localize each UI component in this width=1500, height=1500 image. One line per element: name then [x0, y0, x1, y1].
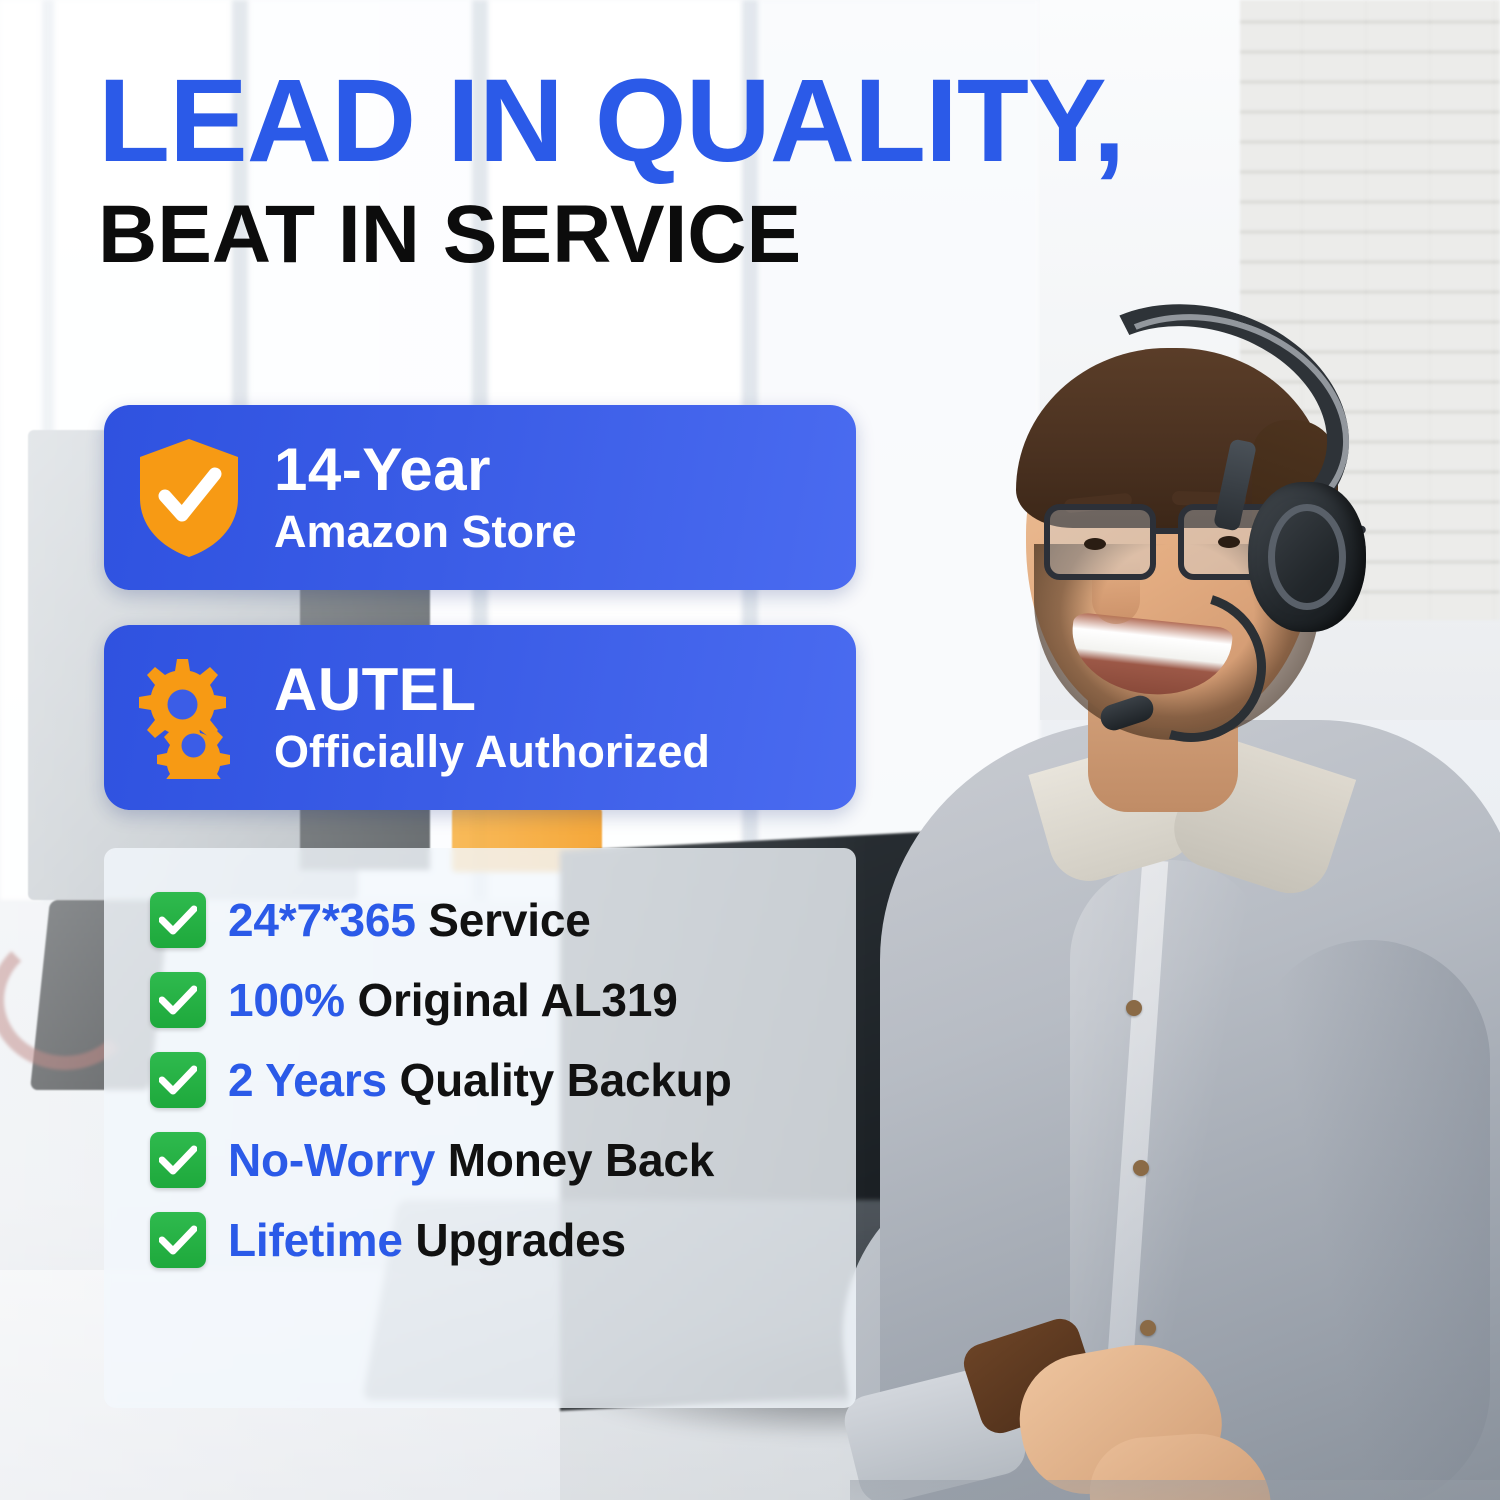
person-shadow	[850, 1480, 1500, 1500]
headline-line-1: LEAD IN QUALITY,	[98, 62, 1458, 180]
badge-card-autel-authorized: AUTEL Officially Authorized	[104, 625, 856, 810]
feature-highlight: 2 Years	[228, 1054, 387, 1106]
feature-rest: Service	[416, 894, 591, 946]
badge-title: 14-Year	[274, 440, 577, 500]
feature-text: No-Worry Money Back	[228, 1133, 714, 1187]
features-list: 24*7*365 Service 100% Original AL319 2 Y…	[150, 892, 910, 1268]
feature-rest: Money Back	[435, 1134, 714, 1186]
feature-text: Lifetime Upgrades	[228, 1213, 626, 1267]
feature-row: 24*7*365 Service	[150, 892, 910, 948]
badge-text-group: 14-Year Amazon Store	[274, 440, 595, 555]
headline-line-2: BEAT IN SERVICE	[98, 194, 1458, 276]
headset-earcup-ring	[1268, 504, 1346, 610]
feature-row: 2 Years Quality Backup	[150, 1052, 910, 1108]
badge-subtitle: Amazon Store	[274, 508, 577, 555]
gears-icon	[104, 657, 274, 779]
badge-subtitle: Officially Authorized	[274, 728, 710, 775]
feature-row: 100% Original AL319	[150, 972, 910, 1028]
feature-text: 100% Original AL319	[228, 973, 678, 1027]
feature-text: 2 Years Quality Backup	[228, 1053, 732, 1107]
product-infographic: LEAD IN QUALITY, BEAT IN SERVICE 14-Year…	[0, 0, 1500, 1500]
check-icon	[150, 1132, 206, 1188]
badge-card-amazon-store: 14-Year Amazon Store	[104, 405, 856, 590]
feature-highlight: No-Worry	[228, 1134, 435, 1186]
check-icon	[150, 892, 206, 948]
feature-rest: Upgrades	[403, 1214, 626, 1266]
feature-row: Lifetime Upgrades	[150, 1212, 910, 1268]
shirt-button	[1140, 1320, 1156, 1336]
feature-text: 24*7*365 Service	[228, 893, 591, 947]
check-icon	[150, 972, 206, 1028]
feature-rest: Original AL319	[345, 974, 678, 1026]
feature-row: No-Worry Money Back	[150, 1132, 910, 1188]
feature-highlight: 24*7*365	[228, 894, 416, 946]
check-icon	[150, 1212, 206, 1268]
headline: LEAD IN QUALITY, BEAT IN SERVICE	[98, 62, 1458, 276]
badge-text-group: AUTEL Officially Authorized	[274, 660, 728, 775]
eye-left	[1084, 538, 1106, 550]
shirt-button	[1126, 1000, 1142, 1016]
shield-check-icon	[104, 436, 274, 560]
support-agent-photo	[820, 300, 1500, 1500]
check-icon	[150, 1052, 206, 1108]
feature-highlight: 100%	[228, 974, 345, 1026]
shirt-button	[1133, 1160, 1149, 1176]
badge-title: AUTEL	[274, 660, 710, 720]
feature-highlight: Lifetime	[228, 1214, 403, 1266]
feature-rest: Quality Backup	[387, 1054, 732, 1106]
shirt-shadow	[1250, 940, 1490, 1500]
